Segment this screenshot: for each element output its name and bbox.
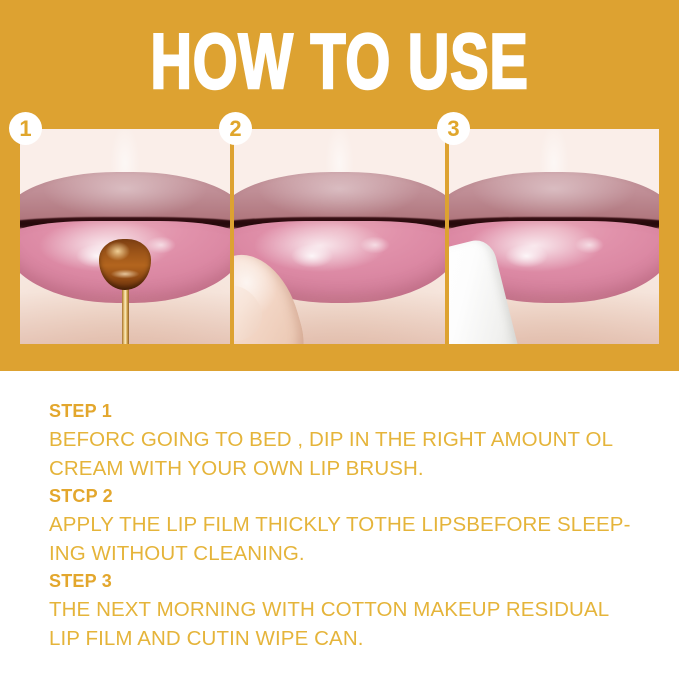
lip-gloss-highlight-secondary bbox=[571, 234, 609, 256]
step-1-body: BEFORC GOING TO BED , DIP IN THE RIGHT A… bbox=[49, 425, 664, 483]
step-3-heading: STEP 3 bbox=[49, 568, 664, 595]
page-title: HOW TO USE bbox=[88, 22, 590, 100]
step-2-line-2: ING WITHOUT CLEANING. bbox=[49, 539, 664, 568]
step-badge-3: 3 bbox=[437, 112, 470, 145]
fingernail bbox=[234, 275, 270, 344]
step-photo-2 bbox=[234, 129, 444, 344]
instruction-list: STEP 1 BEFORC GOING TO BED , DIP IN THE … bbox=[49, 398, 664, 653]
step-2-body: APPLY THE LIP FILM THICKLY TOTHE LIPSBEF… bbox=[49, 510, 664, 568]
photo-strip bbox=[20, 129, 659, 344]
step-3-body: THE NEXT MORNING WITH COTTON MAKEUP RESI… bbox=[49, 595, 664, 653]
step-badge-1: 1 bbox=[9, 112, 42, 145]
step-2-heading: STCP 2 bbox=[49, 483, 664, 510]
how-to-use-infographic: HOW TO USE bbox=[0, 0, 679, 679]
step-photo-1 bbox=[20, 129, 230, 344]
step-1-line-1: BEFORC GOING TO BED , DIP IN THE RIGHT A… bbox=[49, 425, 664, 454]
lip-gloss-highlight bbox=[285, 241, 340, 271]
step-photo-3 bbox=[449, 129, 659, 344]
step-1-heading: STEP 1 bbox=[49, 398, 664, 425]
step-3-line-2: LIP FILM AND CUTIN WIPE CAN. bbox=[49, 624, 664, 653]
step-3-line-1: THE NEXT MORNING WITH COTTON MAKEUP RESI… bbox=[49, 595, 664, 624]
step-2-line-1: APPLY THE LIP FILM THICKLY TOTHE LIPSBEF… bbox=[49, 510, 664, 539]
step-badge-2: 2 bbox=[219, 112, 252, 145]
lip-gloss-highlight bbox=[499, 241, 554, 271]
step-1-line-2: CREAM WITH YOUR OWN LIP BRUSH. bbox=[49, 454, 664, 483]
lip-gloss-highlight-secondary bbox=[356, 234, 394, 256]
